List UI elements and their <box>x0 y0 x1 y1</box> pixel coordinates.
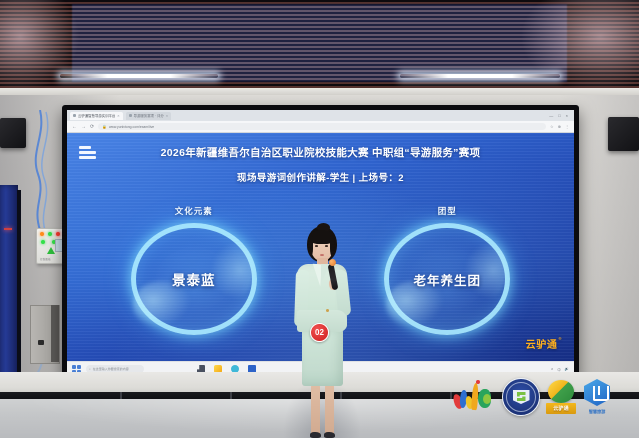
browser-tab-inactive[interactable]: 导游服务赛项 · 评分 × <box>126 112 171 120</box>
logo-dot <box>476 380 480 384</box>
indicator-green-2 <box>41 240 45 244</box>
card-value: 老年养生团 <box>413 270 481 289</box>
control-panel-label: 控制面板 <box>40 257 51 261</box>
hexagon-logo-label: 智慧旅游 <box>582 409 612 415</box>
venue-photo: 控制面板 云驴通智慧导游实训平台 × 导游服务赛项 · 评分 × — <box>0 0 639 438</box>
card-label: 团型 <box>357 205 537 217</box>
hexagon-inner-mark <box>593 386 609 401</box>
maximize-button[interactable]: □ <box>558 113 560 118</box>
wooden-slat-ceiling <box>0 0 639 92</box>
slide-brand-logo: 云驴通 ® <box>526 336 562 351</box>
presenter-shoe-left <box>310 432 321 438</box>
presenter-lips <box>320 254 324 256</box>
presenter-eye-left <box>315 245 318 247</box>
browser-tab-title: 云驴通智慧导游实训平台 <box>78 113 115 118</box>
browser-tab-active[interactable]: 云驴通智慧导游实训平台 × <box>70 112 123 120</box>
lock-icon: 🔒 <box>102 124 107 129</box>
right-wall-speaker <box>608 117 639 151</box>
presenter-shoe-right <box>324 432 335 438</box>
cabinet-led-indicator <box>4 228 12 230</box>
browser-url-bar: ← → ⟳ 🔒 www.yunlvtong.com/exam/live ☆ ⊕ … <box>67 121 574 133</box>
ceiling-blue-panel <box>72 4 567 82</box>
slide-card-culture: 文化元素 景泰蓝 <box>104 205 284 335</box>
browser-toolbar-icons: ☆ ⊕ ⋮ <box>550 124 569 129</box>
close-icon[interactable]: × <box>166 113 168 118</box>
back-icon[interactable]: ← <box>72 124 77 130</box>
window-controls: — □ × <box>549 113 571 118</box>
address-input[interactable]: 🔒 www.yunlvtong.com/exam/live <box>98 123 546 130</box>
vocational-seal-logo <box>502 378 540 416</box>
presenter-leg-left <box>311 384 320 438</box>
presenter-hair-side-left <box>308 236 313 256</box>
menu-kebab-icon[interactable]: ⋮ <box>565 124 569 129</box>
forward-icon[interactable]: → <box>81 124 86 130</box>
address-value: www.yunlvtong.com/exam/live <box>109 125 154 129</box>
extensions-icon[interactable]: ⊕ <box>558 124 561 129</box>
ceiling-light-strip-right <box>400 74 560 78</box>
slide-title: 2026年新疆维吾尔自治区职业院校技能大赛 中职组“导游服务”赛项 <box>67 147 574 160</box>
blue-equipment-cabinet <box>0 185 18 400</box>
menu-bar-1 <box>79 146 91 149</box>
volume-icon[interactable]: 🔊 <box>565 367 569 371</box>
favicon-icon <box>129 114 132 117</box>
ime-indicator[interactable]: 中 <box>557 367 560 372</box>
ceiling-glow-left <box>0 0 80 92</box>
control-panel-indicator-row-2 <box>41 240 56 244</box>
shield-label: 云驴通 <box>546 403 576 414</box>
hamburger-menu-icon[interactable] <box>79 146 96 159</box>
card-ring-graphic: 老年养生团 <box>384 223 510 335</box>
hexagon-shape <box>584 379 610 406</box>
slide-heading-group: 2026年新疆维吾尔自治区职业院校技能大赛 中职组“导游服务”赛项 现场导游词创… <box>67 147 574 184</box>
blue-network-cable <box>26 110 66 235</box>
seal-s-mark <box>517 392 526 401</box>
slide-card-group-type: 团型 老年养生团 <box>357 205 537 335</box>
hexagon-partner-logo: 智慧旅游 <box>582 379 612 415</box>
shield-emblem <box>548 380 574 403</box>
yunlvtong-shield-logo: 云驴通 <box>546 380 576 414</box>
xinjiang-tourism-logo <box>452 380 496 414</box>
venue-logo-row: 云驴通 智慧旅游 <box>452 378 612 416</box>
logo-stroke-lightgreen <box>483 394 491 404</box>
registered-mark-icon: ® <box>558 336 562 341</box>
contestant-number-badge: 02 <box>310 323 329 342</box>
search-placeholder: 在这里输入你要搜索的内容 <box>93 367 129 371</box>
indicator-red <box>56 232 60 236</box>
presenter-eye-right <box>325 245 328 247</box>
start-tile-1 <box>72 365 76 369</box>
ceiling-light-strip-left <box>60 74 218 78</box>
card-ring-graphic: 景泰蓝 <box>131 223 257 335</box>
start-tile-2 <box>77 365 81 369</box>
seal-shield-shape <box>513 390 530 404</box>
brand-text: 云驴通 <box>526 336 558 351</box>
menu-bar-3 <box>79 156 96 159</box>
minimize-button[interactable]: — <box>549 113 553 118</box>
tray-chevron-icon[interactable]: ∧ <box>551 367 553 371</box>
presenter: 02 <box>281 226 363 438</box>
bookmark-star-icon[interactable]: ☆ <box>550 124 554 129</box>
search-icon: ⌕ <box>89 367 91 371</box>
wall-port <box>38 340 44 345</box>
presenter-jacket-button <box>326 309 329 312</box>
slide-subtitle: 现场导游词创作讲解-学生 | 上场号：2 <box>67 170 574 184</box>
browser-tab-title: 导游服务赛项 · 评分 <box>134 113 164 118</box>
wall-utility-box-side <box>51 305 59 362</box>
ceiling-glow-right <box>520 0 639 92</box>
close-icon[interactable]: × <box>117 113 119 118</box>
card-value: 景泰蓝 <box>172 269 216 289</box>
left-wall-speaker <box>0 118 26 148</box>
menu-bar-2 <box>79 151 96 154</box>
indicator-orange <box>40 232 44 236</box>
favicon-icon <box>73 114 76 117</box>
warning-triangle-icon <box>47 247 55 254</box>
taskbar-tray: ∧ 中 🔊 <box>551 367 569 372</box>
presenter-leg-right <box>325 384 334 438</box>
reload-icon[interactable]: ⟳ <box>90 124 94 130</box>
browser-tab-bar: 云驴通智慧导游实训平台 × 导游服务赛项 · 评分 × — □ × <box>67 110 574 121</box>
close-window-button[interactable]: × <box>566 113 568 118</box>
card-label: 文化元素 <box>104 205 284 217</box>
indicator-green-1 <box>48 232 52 236</box>
control-panel-indicator-row-1 <box>40 232 60 236</box>
